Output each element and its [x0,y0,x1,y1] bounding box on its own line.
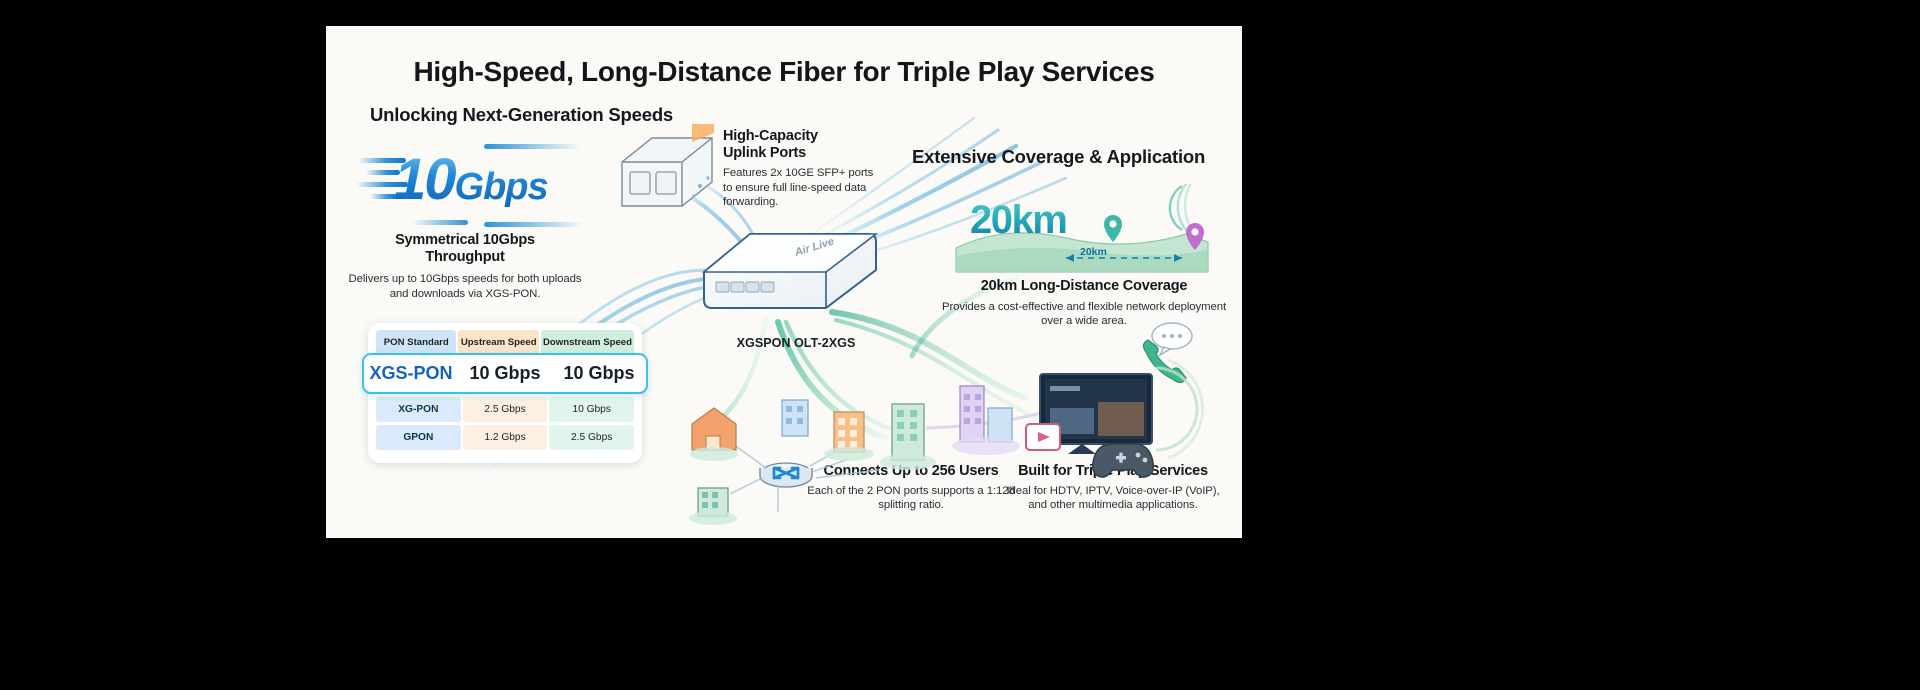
cell-standard: GPON [376,425,461,450]
coverage-map-graphic: 20km 20km [946,184,1228,276]
office-building-icon [824,412,874,461]
map-distance-badge: 20km [1080,246,1107,258]
purple-building-icon [960,386,984,442]
tenGbps-unit: Gbps [455,166,548,208]
uplink-title: High-Capacity Uplink Ports [723,128,883,162]
throughput-title: Symmetrical 10Gbps Throughput [340,232,590,266]
cell-downstream: 2.5 Gbps [549,425,634,450]
triple-play-title: Built for Triple Play Services [998,463,1228,480]
blue-building-icon [952,408,1020,455]
twentyKm-unit: km [1012,198,1067,242]
table-row: GPON 1.2 Gbps 2.5 Gbps [376,425,634,450]
twentyKm-number: 20 [970,198,1012,242]
infographic-card: High-Speed, Long-Distance Fiber for Trip… [326,26,1242,538]
device-label: XGSPON OLT-2XGS [706,336,886,350]
table-header-row: PON Standard Upstream Speed Downstream S… [376,330,634,355]
cell-upstream: 2.5 Gbps [463,397,548,422]
page-title: High-Speed, Long-Distance Fiber for Trip… [326,56,1242,88]
users-title: Connects Up to 256 Users [806,463,1016,480]
coverage-desc: Provides a cost-effective and flexible n… [934,300,1234,329]
column-header-downstream: Downstream Speed [541,330,634,355]
section-heading-left: Unlocking Next-Generation Speeds [370,104,673,126]
uplink-desc: Features 2x 10GE SFP+ ports to ensure fu… [723,166,883,209]
tenGbps-art-text: 10Gbps [394,146,548,213]
table-row-highlighted: XGS-PON 10 Gbps 10 Gbps [362,353,648,394]
tower-icon [782,400,808,436]
phone-icon [1143,340,1186,383]
column-header-standard: PON Standard [376,330,456,355]
tenGbps-graphic: 10Gbps [356,138,596,234]
uplink-title-line1: High-Capacity [723,128,883,145]
uplink-block: High-Capacity Uplink Ports Features 2x 1… [723,128,883,209]
cell-upstream: 1.2 Gbps [463,425,548,450]
section-heading-right: Extensive Coverage & Application [912,146,1205,168]
tall-building-icon [880,404,936,470]
small-building-icon [689,488,737,525]
tv-icon [1040,374,1152,454]
olt-device-illustration: Air Live [700,226,880,324]
triple-play-desc: Ideal for HDTV, IPTV, Voice-over-IP (VoI… [998,484,1228,513]
cell-downstream: 10 Gbps [549,397,634,422]
play-button-icon [1026,424,1060,450]
tenGbps-number: 10 [394,147,455,212]
cell-standard: XG-PON [376,397,461,422]
triple-play-block: Built for Triple Play Services Ideal for… [998,463,1228,513]
users-desc: Each of the 2 PON ports supports a 1:128… [806,484,1016,513]
throughput-block: Symmetrical 10Gbps Throughput Delivers u… [340,232,590,301]
throughput-desc: Delivers up to 10Gbps speeds for both up… [340,272,590,301]
users-block: Connects Up to 256 Users Each of the 2 P… [806,463,1016,513]
throughput-title-line2: Throughput [340,249,590,266]
sfp-module-icon [608,124,728,220]
table-row: XG-PON 2.5 Gbps 10 Gbps [376,397,634,422]
coverage-title: 20km Long-Distance Coverage [934,278,1234,295]
house-icon [690,408,738,461]
screenshot-root: High-Speed, Long-Distance Fiber for Trip… [0,0,1920,690]
map-pin-left [1104,215,1122,242]
splitter-icon [760,463,812,487]
coverage-block: 20km Long-Distance Coverage Provides a c… [934,278,1234,329]
cell-standard-highlight: XGS-PON [364,363,458,384]
uplink-title-line2: Uplink Ports [723,145,883,162]
throughput-title-line1: Symmetrical 10Gbps [340,232,590,249]
column-header-upstream: Upstream Speed [458,330,538,355]
cell-downstream-highlight: 10 Gbps [552,363,646,384]
cell-upstream-highlight: 10 Gbps [458,363,552,384]
twentyKm-art-text: 20km [970,198,1066,243]
